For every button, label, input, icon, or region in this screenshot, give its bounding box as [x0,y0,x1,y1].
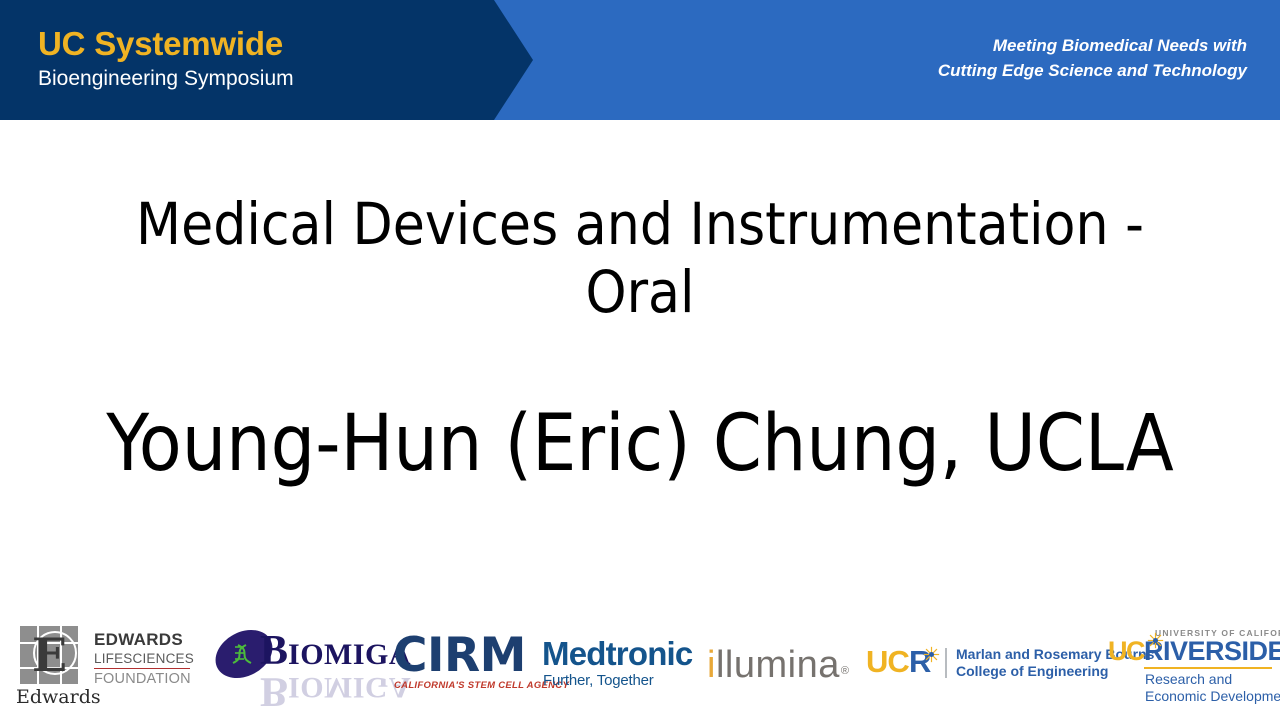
medtronic-wordmark: Medtronic [542,636,692,672]
ucr-uc-mark: UC [866,645,909,679]
sponsor-logo-cirm: CIRM CALIFORNIA'S STEM CELL AGENCY [393,632,528,698]
ucriverside-wordmark: RIVERSIDE [1144,636,1280,666]
biomiga-wordmark: BIOMIGA [260,630,411,672]
ucriverside-uc-mark: UC [1108,636,1144,666]
edwards-lifesciences-line-1: EDWARDS [94,630,191,650]
medtronic-tagline: Further, Together [543,672,654,690]
edwards-lifesciences-lockup: EDWARDS LIFESCIENCES FOUNDATION [94,630,191,689]
illumina-word-rest: llumina [716,644,840,686]
cirm-wordmark: CIRM [393,632,526,679]
sunburst-icon [923,646,940,663]
sponsor-logo-ucr-engineering: UC R Marlan and Rosemary Bourns College … [866,645,1096,689]
event-tagline: Meeting Biomedical Needs with Cutting Ed… [938,33,1247,83]
edwards-mark-letter: E [32,632,67,678]
biomiga-reflection-initial: B [260,668,288,714]
slide-content: Medical Devices and Instrumentation - Or… [0,120,1280,600]
ucriverside-unit-name: Research and Economic Development [1145,671,1280,705]
ucriverside-unit-line-1: Research and [1145,671,1280,688]
illumina-wordmark: illumina® [707,644,840,686]
biomiga-wordmark-reflection: BIOMIGA [260,670,411,712]
sunburst-icon [1147,632,1164,649]
sponsor-logo-biomiga: BIOMIGA BIOMIGA [212,626,384,706]
edwards-lifesciences-line-2: LIFESCIENCES [94,650,190,669]
event-name-primary: UC Systemwide [38,24,294,64]
session-title: Medical Devices and Instrumentation - Or… [90,190,1190,326]
registered-trademark-icon: ® [841,650,850,692]
sponsor-logo-ucr-research: UNIVERSITY OF CALIFORNIA UC RIVERSIDE Re… [1108,628,1273,704]
sponsor-logo-bar: E Edwards EDWARDS LIFESCIENCES FOUNDATIO… [0,618,1280,714]
illumina-word-accent: i [707,644,716,686]
sponsor-logo-illumina: illumina® [707,644,852,686]
edwards-wordmark: Edwards [16,686,101,708]
event-tagline-line-2: Cutting Edge Science and Technology [938,58,1247,83]
event-name-secondary: Bioengineering Symposium [38,64,294,94]
ucriverside-unit-line-2: Economic Development [1145,688,1280,705]
header-banner: UC Systemwide Bioengineering Symposium M… [0,0,1280,120]
edwards-mark-icon: E [20,626,78,684]
sponsor-logo-edwards: E Edwards EDWARDS LIFESCIENCES FOUNDATIO… [14,622,204,710]
dna-helix-icon [228,640,258,668]
event-branding: UC Systemwide Bioengineering Symposium [38,24,294,94]
speaker-name: Young-Hun (Eric) Chung, UCLA [60,400,1220,488]
edwards-lifesciences-line-3: FOUNDATION [94,670,191,689]
ucr-divider [945,648,947,678]
sponsor-logo-medtronic: Medtronic Further, Together [542,636,692,696]
event-tagline-line-1: Meeting Biomedical Needs with [938,33,1247,58]
ucriverside-rule [1144,667,1272,669]
